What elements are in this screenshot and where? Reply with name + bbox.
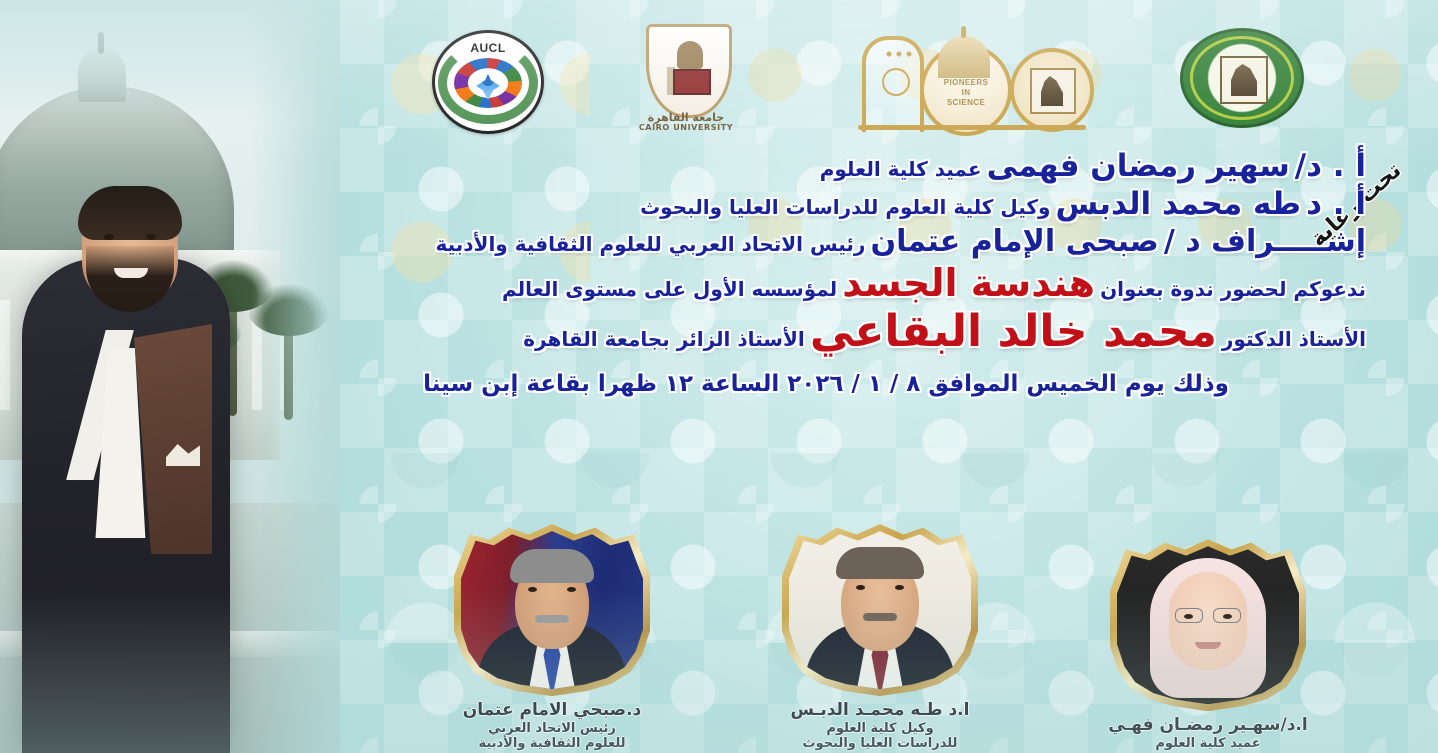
honoree-caption: د.صبحي الامام عتمان رئيس الاتحاد العربي … [422, 701, 682, 751]
honoree-role-line-1: رئيس الاتحاد العربي [422, 721, 682, 736]
centennial-100-logo: PIONEERS IN SCIENCE [856, 34, 1088, 130]
aucl-logo: AUCL [432, 30, 544, 134]
supervision-title: رئيس الاتحاد العربي للعلوم الثقافية والأ… [435, 232, 865, 256]
portrait-eyes [852, 585, 908, 591]
cairo-university-shield-icon [646, 24, 732, 118]
datetime-line: وذلك يوم الخميس الموافق ٨ / ١ / ٢٠٢٦ الس… [286, 371, 1366, 397]
portrait-image-1 [461, 531, 643, 689]
honoree-name: ا.د/سهـير رمضـان فهـي [1078, 716, 1338, 736]
seminar-title: هندسة الجسد [842, 261, 1095, 305]
portrait-image-2 [789, 531, 971, 689]
cairo-university-logo: جامعة القاهرة CAIRO UNIVERSITY [632, 24, 740, 142]
patronage-line-2: أ . د طه محمد الدبس وكيل كلية العلوم للد… [286, 188, 1366, 220]
patron-2-title: وكيل كلية العلوم للدراسات العليا والبحوث [640, 195, 1050, 219]
glasses-icon [1175, 608, 1241, 622]
supervision-line: إشـــــراف د / صبحى الإمام عتمان رئيس ال… [286, 226, 1366, 257]
portrait-moustache [535, 615, 569, 623]
cairo-university-label: جامعة القاهرة CAIRO UNIVERSITY [632, 112, 740, 132]
patron-1-prefix: أ . د/ [1295, 148, 1366, 184]
speaker-smile [114, 268, 148, 278]
portrait-image-3 [1117, 546, 1299, 704]
centennial-base-bar [858, 125, 1086, 130]
speaker-line: الأستاذ الدكتور محمد خالد البقاعي الأستا… [286, 309, 1366, 355]
portrait-frame [454, 524, 650, 696]
invitation-line: ندعوكم لحضور ندوة بعنوان هندسة الجسد لمؤ… [286, 264, 1366, 304]
faculty-logo-emblem [1220, 56, 1268, 104]
honoree-name: د.صبحي الامام عتمان [422, 701, 682, 721]
speaker-prefix: الأستاذ الدكتور [1222, 327, 1366, 351]
pioneers-line-2: IN [962, 88, 971, 97]
speaker-hair [78, 186, 182, 240]
portrait-eyes [524, 587, 580, 593]
portrait-moustache [863, 613, 897, 621]
centennial-seal-emblem [1030, 68, 1076, 114]
portrait-hair [836, 547, 924, 579]
clock-icon [882, 68, 910, 96]
pioneers-line-3: SCIENCE [947, 98, 985, 107]
speaker-eye-left [104, 234, 114, 240]
speaker-title: الأستاذ الزائر بجامعة القاهرة [523, 327, 804, 351]
patron-1-name: سهير رمضان فهمى [987, 148, 1290, 184]
cairo-university-label-en: CAIRO UNIVERSITY [632, 124, 740, 132]
portrait-hair [510, 549, 594, 583]
honoree-portrait-row: د.صبحي الامام عتمان رئيس الاتحاد العربي … [330, 498, 1438, 753]
clock-tower-dots [884, 50, 914, 58]
pioneers-line-1: PIONEERS [944, 78, 989, 87]
pioneers-in-science-text: PIONEERS IN SCIENCE [924, 78, 1008, 108]
supervision-name: صبحى الإمام عتمان [871, 224, 1159, 259]
honoree-role-line-2: للعلوم الثقافية والأدبية [422, 736, 682, 751]
portrait-mouth [1195, 642, 1221, 649]
honoree-role-line-1: وكيل كلية العلوم [750, 721, 1010, 736]
patronage-line-1: أ . د/ سهير رمضان فهمى عميد كلية العلوم [286, 150, 1366, 182]
honoree-caption: ا.د طـه محمـد الدبـس وكيل كلية العلوم لل… [750, 701, 1010, 751]
honoree-name: ا.د طـه محمـد الدبـس [750, 701, 1010, 721]
honoree-card: ا.د/سهـير رمضـان فهـي عميد كلية العلوم [1078, 539, 1338, 751]
honoree-role-line-1: عميد كلية العلوم [1078, 736, 1338, 751]
honoree-card: د.صبحي الامام عتمان رئيس الاتحاد العربي … [422, 524, 682, 751]
speaker-name: محمد خالد البقاعي [810, 306, 1217, 357]
invitation-lead: ندعوكم لحضور ندوة بعنوان [1100, 277, 1366, 301]
faculty-of-science-logo [1180, 28, 1304, 128]
speaker-eye-right [146, 234, 156, 240]
event-poster: AUCL جامعة القاهرة CAIRO UNIVERSITY [0, 0, 1438, 753]
honoree-caption: ا.د/سهـير رمضـان فهـي عميد كلية العلوم [1078, 716, 1338, 751]
centennial-digit-zero-dome: PIONEERS IN SCIENCE [920, 44, 1012, 136]
aucl-logo-text: AUCL [432, 41, 544, 55]
honoree-card: ا.د طـه محمـد الدبـس وكيل كلية العلوم لل… [750, 524, 1010, 751]
centennial-digit-one [862, 36, 924, 132]
patron-2-prefix: أ . د [1306, 186, 1366, 222]
emblem-figure [677, 41, 703, 69]
logo-row: AUCL جامعة القاهرة CAIRO UNIVERSITY [0, 14, 1438, 126]
supervision-prefix: إشـــــراف د / [1164, 224, 1366, 259]
honoree-role-line-2: للدراسات العليا والبحوث [750, 736, 1010, 751]
poster-text-block: أ . د/ سهير رمضان فهمى عميد كلية العلوم … [286, 150, 1366, 397]
portrait-frame [782, 524, 978, 696]
patron-2-name: طه محمد الدبس [1056, 186, 1301, 222]
emblem-book [673, 69, 711, 95]
portrait-frame [1110, 539, 1306, 711]
dome-icon [938, 36, 990, 78]
centennial-digit-zero-seal [1010, 48, 1094, 132]
invitation-tail: لمؤسسه الأول على مستوى العالم [502, 277, 837, 301]
patron-1-title: عميد كلية العلوم [820, 157, 982, 181]
cairo-university-emblem [665, 41, 713, 97]
